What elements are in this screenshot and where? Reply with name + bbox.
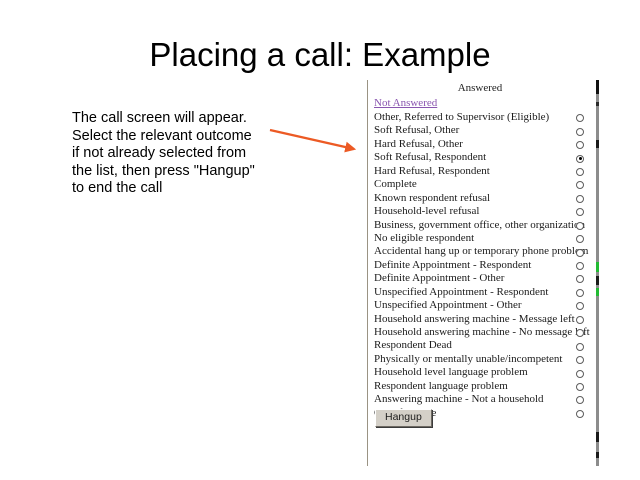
outcome-radio-button[interactable] <box>576 396 584 404</box>
outcome-radio-button[interactable] <box>576 155 584 163</box>
outcome-row[interactable]: Accidental hang up or temporary phone pr… <box>368 245 593 258</box>
scrollbar-mark <box>596 452 599 458</box>
scrollbar-mark <box>596 262 599 272</box>
outcome-row[interactable]: Business, government office, other organ… <box>368 219 593 232</box>
outcome-radio-button[interactable] <box>576 343 584 351</box>
outcome-row[interactable]: Household answering machine - No message… <box>368 326 593 339</box>
outcome-label: Household answering machine - No message… <box>374 326 590 339</box>
outcome-row[interactable]: Physically or mentally unable/incompeten… <box>368 353 593 366</box>
outcome-radio-button[interactable] <box>576 249 584 257</box>
outcome-radio-button[interactable] <box>576 208 584 216</box>
scrollbar-mark <box>596 276 599 285</box>
outcome-row[interactable]: Unspecified Appointment - Respondent <box>368 286 593 299</box>
panel-scrollbar-edge[interactable] <box>596 80 599 466</box>
outcome-radio-button[interactable] <box>576 181 584 189</box>
outcome-label: Accidental hang up or temporary phone pr… <box>374 245 588 258</box>
outcome-radio-button[interactable] <box>576 316 584 324</box>
outcome-label: Household answering machine - Message le… <box>374 313 575 326</box>
callout-line: the list, then press "Hangup" <box>72 163 282 181</box>
call-screen-content: Answered Not Answered Other, Referred to… <box>368 80 598 466</box>
outcome-radio-button[interactable] <box>576 195 584 203</box>
outcome-radio-button[interactable] <box>576 356 584 364</box>
outcome-row[interactable]: Definite Appointment - Other <box>368 272 593 285</box>
outcome-label: Business, government office, other organ… <box>374 219 585 232</box>
outcome-radio-button[interactable] <box>576 410 584 418</box>
outcome-label: Unspecified Appointment - Other <box>374 299 522 312</box>
pointer-arrow <box>268 124 372 158</box>
outcome-label: No eligible respondent <box>374 232 474 245</box>
outcome-row[interactable]: Definite Appointment - Respondent <box>368 259 593 272</box>
outcome-radio-button[interactable] <box>576 168 584 176</box>
outcome-radio-button[interactable] <box>576 370 584 378</box>
outcome-label: Known respondent refusal <box>374 192 490 205</box>
outcome-row[interactable]: Household level language problem <box>368 366 593 379</box>
outcome-label: Physically or mentally unable/incompeten… <box>374 353 562 366</box>
outcome-row[interactable]: Respondent Dead <box>368 339 593 352</box>
outcome-radio-button[interactable] <box>576 114 584 122</box>
outcome-radio-button[interactable] <box>576 222 584 230</box>
outcome-row[interactable]: Hard Refusal, Other <box>368 138 593 151</box>
outcome-label: Complete <box>374 178 417 191</box>
outcome-row[interactable]: Soft Refusal, Respondent <box>368 151 593 164</box>
outcome-radio-button[interactable] <box>576 262 584 270</box>
outcome-radio-button[interactable] <box>576 302 584 310</box>
callout-line: if not already selected from <box>72 145 282 163</box>
answered-section-header: Answered <box>368 82 592 94</box>
outcome-label: Definite Appointment - Other <box>374 272 504 285</box>
hangup-button[interactable]: Hangup <box>375 409 432 427</box>
outcome-label: Other, Referred to Supervisor (Eligible) <box>374 111 549 124</box>
slide-canvas: Placing a call: Example The call screen … <box>0 0 640 480</box>
outcome-row[interactable]: Answering machine - Not a household <box>368 393 593 406</box>
outcome-label: Respondent language problem <box>374 380 508 393</box>
outcome-label: Respondent Dead <box>374 339 452 352</box>
outcome-label: Soft Refusal, Respondent <box>374 151 486 164</box>
outcome-label: Hard Refusal, Other <box>374 138 463 151</box>
outcome-row[interactable]: Household-level refusal <box>368 205 593 218</box>
scrollbar-mark <box>596 140 599 148</box>
outcome-row[interactable]: Respondent language problem <box>368 380 593 393</box>
outcome-row[interactable]: Known respondent refusal <box>368 192 593 205</box>
outcome-label: Definite Appointment - Respondent <box>374 259 531 272</box>
outcome-radio-button[interactable] <box>576 275 584 283</box>
outcome-radio-button[interactable] <box>576 128 584 136</box>
page-title: Placing a call: Example <box>0 36 640 74</box>
outcome-radio-button[interactable] <box>576 141 584 149</box>
outcome-radio-button[interactable] <box>576 235 584 243</box>
outcome-label: Unspecified Appointment - Respondent <box>374 286 548 299</box>
scrollbar-mark <box>596 80 599 94</box>
outcome-label: Household level language problem <box>374 366 528 379</box>
outcome-label: Answering machine - Not a household <box>374 393 544 406</box>
call-screen-panel: Answered Not Answered Other, Referred to… <box>367 80 599 466</box>
outcome-row[interactable]: No eligible respondent <box>368 232 593 245</box>
not-answered-link[interactable]: Not Answered <box>374 97 437 109</box>
outcome-row[interactable]: Other, Referred to Supervisor (Eligible) <box>368 111 593 124</box>
outcome-row[interactable]: Household answering machine - Message le… <box>368 313 593 326</box>
scrollbar-mark <box>596 288 599 296</box>
outcome-row[interactable]: Complete <box>368 178 593 191</box>
outcome-radio-button[interactable] <box>576 383 584 391</box>
callout-line: to end the call <box>72 180 282 198</box>
outcome-label: Soft Refusal, Other <box>374 124 459 137</box>
callout-text-block: The call screen will appear.Select the r… <box>72 110 282 198</box>
outcome-label: Hard Refusal, Respondent <box>374 165 490 178</box>
outcome-row[interactable]: Hard Refusal, Respondent <box>368 165 593 178</box>
scrollbar-mark <box>596 432 599 442</box>
outcome-radio-button[interactable] <box>576 289 584 297</box>
callout-line: The call screen will appear. <box>72 110 282 128</box>
scrollbar-mark <box>596 102 599 106</box>
outcome-row[interactable]: Soft Refusal, Other <box>368 124 593 137</box>
callout-line: Select the relevant outcome <box>72 128 282 146</box>
outcome-radio-list: Other, Referred to Supervisor (Eligible)… <box>368 111 593 420</box>
outcome-label: Household-level refusal <box>374 205 479 218</box>
outcome-row[interactable]: Unspecified Appointment - Other <box>368 299 593 312</box>
